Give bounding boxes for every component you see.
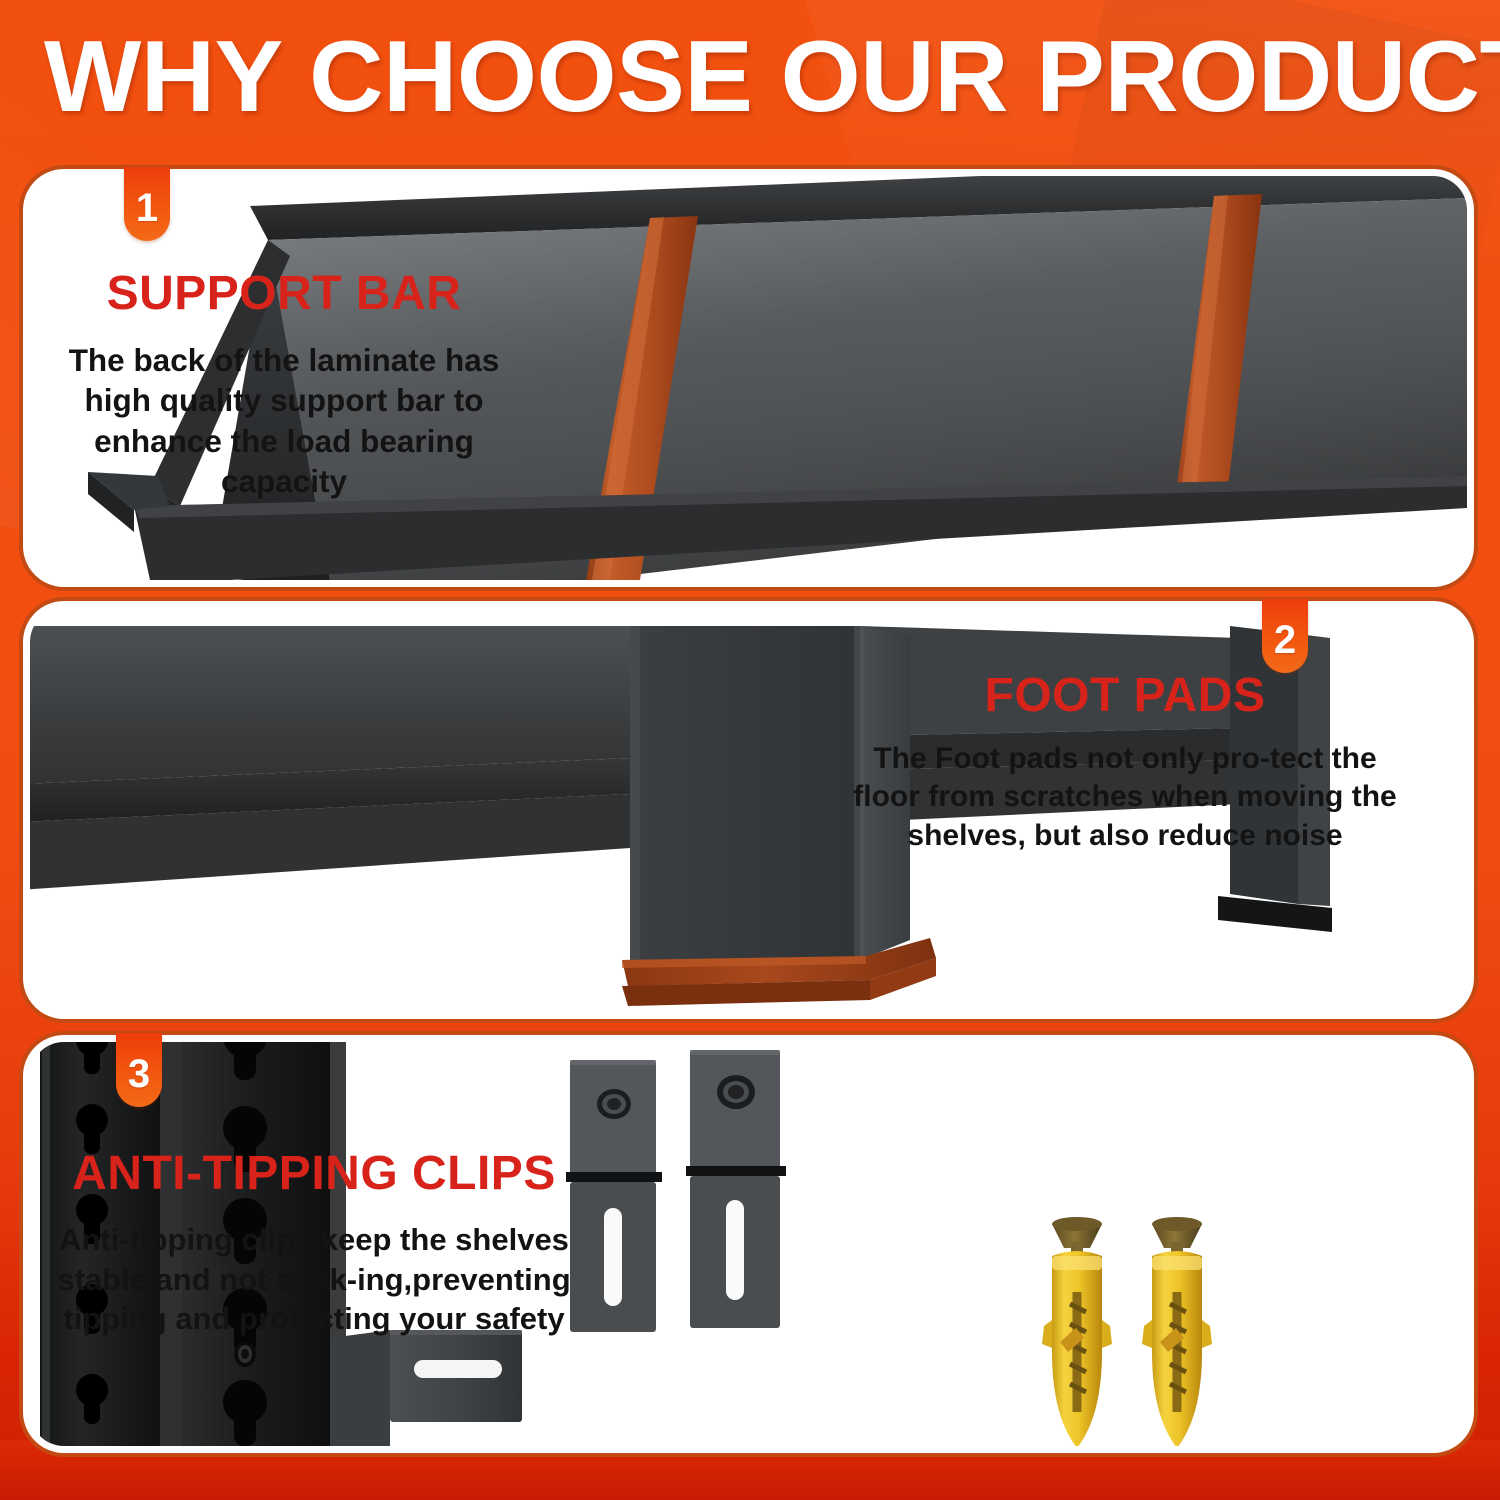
feature-badge-2-number: 2 [1274,620,1296,673]
feature-badge-1-number: 1 [136,188,158,241]
infographic-stage: WHY CHOOSE OUR PRODUCT [0,0,1500,1500]
feature-badge-3: 3 [116,1033,162,1107]
wall-anchor-right [1142,1217,1212,1446]
feature-text-1: SUPPORT BAR The back of the laminate has… [34,270,534,501]
feature-title-1: SUPPORT BAR [34,270,534,318]
background-bottom-band [0,1440,1500,1500]
feature-badge-1: 1 [124,167,170,241]
post-rivet [234,1341,256,1367]
installed-clip [330,1330,522,1446]
feature-body-2: The Foot pads not only pro-tect the floo… [845,740,1405,855]
feature-body-1: The back of the laminate has high qualit… [34,340,534,501]
header: WHY CHOOSE OUR PRODUCT [0,0,1500,155]
feature-badge-3-number: 3 [128,1054,150,1107]
anti-tipping-clip-right [686,1050,786,1328]
wall-anchor-left [1042,1217,1112,1446]
feature-text-2: FOOT PADS The Foot pads not only pro-tec… [845,672,1405,855]
page-title: WHY CHOOSE OUR PRODUCT [44,27,1500,128]
feature-text-3: ANTI-TIPPING CLIPS Anti-tipping clips ke… [34,1150,594,1339]
feature-body-3: Anti-tipping clips keep the shelves stab… [34,1220,594,1339]
feature-title-2: FOOT PADS [845,672,1405,720]
feature-title-3: ANTI-TIPPING CLIPS [34,1150,594,1198]
feature-badge-2: 2 [1262,599,1308,673]
